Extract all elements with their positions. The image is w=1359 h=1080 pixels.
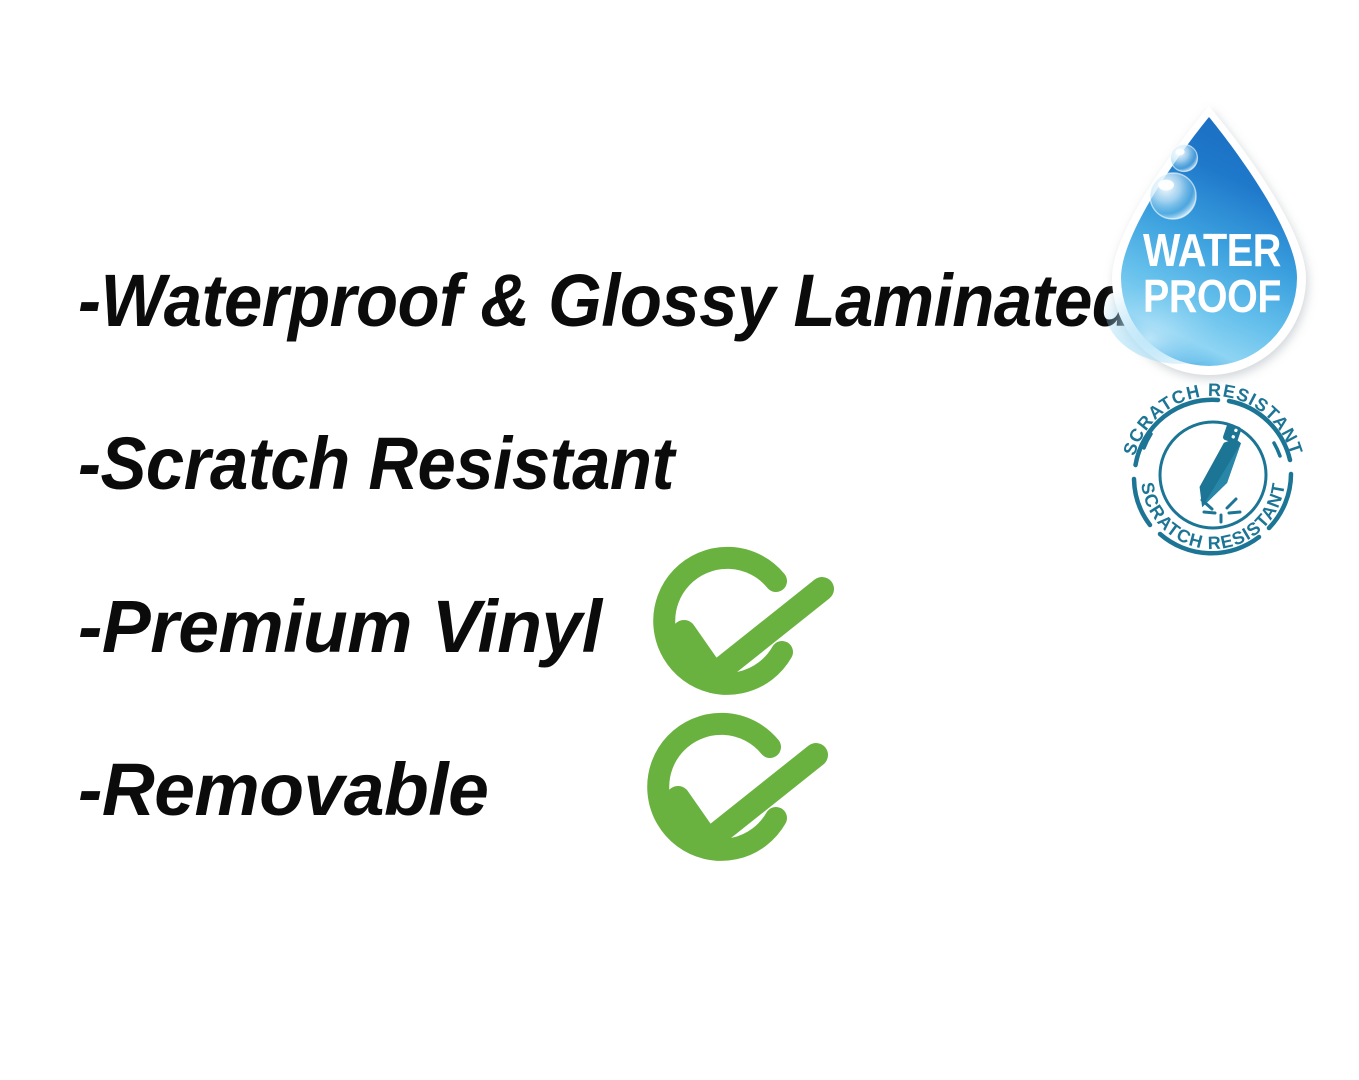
waterproof-badge: WATER PROOF	[1098, 100, 1320, 378]
feature-item-removable: -Removable	[78, 747, 492, 833]
bubble-small-icon	[1171, 145, 1198, 172]
feature-label: -Premium Vinyl	[78, 584, 602, 670]
bubble-large-icon	[1150, 173, 1196, 219]
knife-stamp-icon: SCRATCH RESISTANT SCRATCH RESISTANT	[1114, 382, 1312, 564]
feature-item-scratch-resistant: -Scratch Resistant	[78, 421, 719, 507]
water-drop-icon: WATER PROOF	[1098, 100, 1320, 378]
waterproof-line2: PROOF	[1143, 270, 1281, 322]
check-circle-premium-vinyl	[636, 556, 844, 716]
waterproof-line1: WATER	[1143, 224, 1281, 276]
check-tick	[678, 755, 816, 841]
feature-label: -Scratch Resistant	[78, 421, 674, 507]
check-tick	[684, 589, 822, 675]
promo-feature-graphic: -Waterproof & Glossy Laminated -Scratch …	[0, 0, 1359, 1080]
knife-handle	[1222, 423, 1242, 444]
arc-dash-right	[1274, 443, 1280, 456]
scratch-resistant-badge: SCRATCH RESISTANT SCRATCH RESISTANT	[1114, 382, 1312, 564]
check-circle-icon	[636, 556, 844, 716]
feature-label: -Waterproof & Glossy Laminated	[78, 258, 1133, 344]
bubble-small-highlight	[1175, 149, 1184, 155]
arc-top-text: SCRATCH RESISTANT	[1119, 380, 1307, 458]
feature-item-waterproof-glossy-laminated: -Waterproof & Glossy Laminated	[78, 258, 1213, 344]
feature-item-premium-vinyl: -Premium Vinyl	[78, 584, 607, 670]
check-circle-icon	[630, 722, 838, 882]
feature-list: -Waterproof & Glossy Laminated -Scratch …	[0, 0, 1100, 1080]
bubble-large-highlight	[1158, 180, 1174, 191]
feature-label: -Removable	[78, 747, 488, 833]
scratch-sparks-icon	[1202, 499, 1240, 522]
check-circle-removable	[630, 722, 838, 882]
